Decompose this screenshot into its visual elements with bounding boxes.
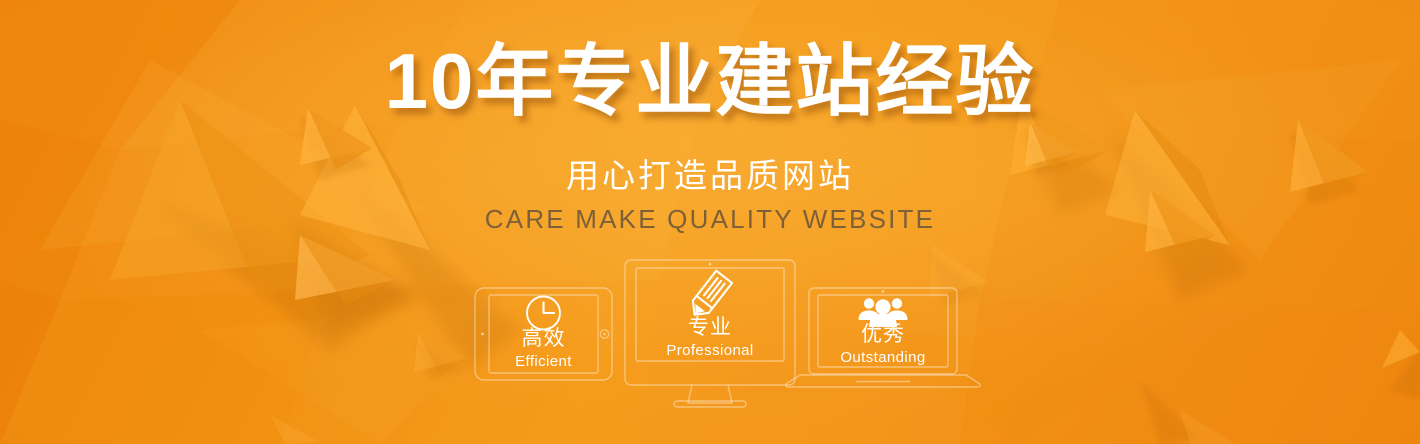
- laptop-camera-dot: [882, 290, 885, 293]
- pencil-icon: [687, 271, 732, 321]
- monitor-label-en: Professional: [666, 342, 753, 359]
- tablet-label-en: Efficient: [515, 353, 572, 370]
- tablet-home-dot: [603, 333, 606, 336]
- feature-card-monitor[interactable]: 专业 Professional: [625, 260, 795, 407]
- laptop-label-en: Outstanding: [840, 349, 925, 366]
- monitor-camera-dot: [709, 263, 712, 266]
- feature-card-laptop[interactable]: 优秀 Outstanding: [786, 288, 980, 387]
- feature-devices-group: 高效 Efficient 专业 Professional: [0, 0, 1420, 444]
- monitor-label-cn: 专业: [688, 316, 732, 339]
- clock-icon: [527, 297, 560, 330]
- tablet-camera-dot: [481, 333, 484, 336]
- tablet-label-cn: 高效: [522, 327, 566, 350]
- monitor-stand-base: [674, 401, 746, 407]
- laptop-label-cn: 优秀: [861, 323, 905, 346]
- feature-card-tablet[interactable]: 高效 Efficient: [475, 288, 612, 380]
- promo-banner: 10年专业建站经验 用心打造品质网站 CARE MAKE QUALITY WEB…: [0, 0, 1420, 444]
